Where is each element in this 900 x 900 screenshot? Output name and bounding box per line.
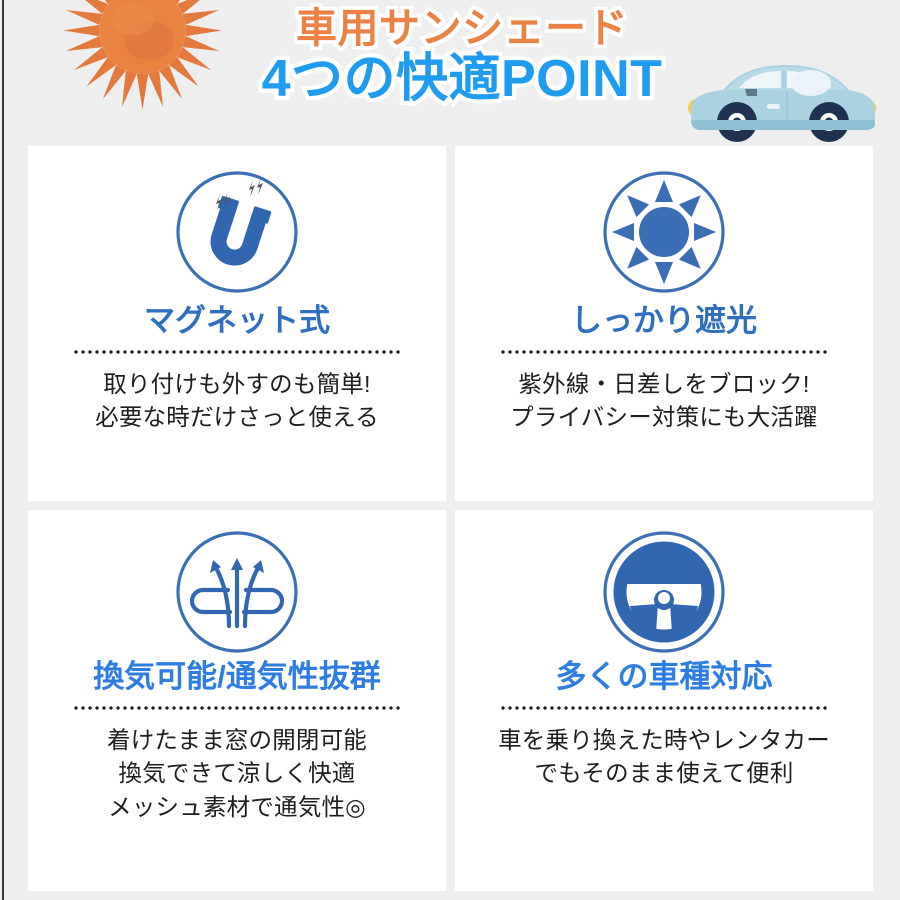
card-body-line: 取り付けも外すのも簡単! <box>95 368 379 401</box>
header-title-line1: 車用サンシェード <box>232 8 692 49</box>
feature-card-magnet[interactable]: マグネット式 取り付けも外すのも簡単! 必要な時だけさっと使える <box>28 146 446 501</box>
card-body: 紫外線・日差しをブロック! プライバシー対策にも大活躍 <box>510 368 818 435</box>
steering-wheel-icon <box>600 528 728 656</box>
card-body-line: 着けたまま窓の開閉可能 <box>107 724 367 757</box>
card-divider <box>74 350 400 354</box>
header-banner: 車用サンシェード 4つの快適POINT <box>0 0 900 145</box>
card-body-line: 紫外線・日差しをブロック! <box>510 368 818 401</box>
car-illustration <box>683 52 883 144</box>
header-title-line2: 4つの快適POINT <box>232 53 692 105</box>
feature-card-ventilation[interactable]: 換気可能/通気性抜群 着けたまま窓の開閉可能 換気できて涼しく快適 メッシュ素材… <box>28 510 446 891</box>
card-body: 車を乗り換えた時やレンタカー でもそのまま使えて便利 <box>498 724 830 791</box>
card-title: 換気可能/通気性抜群 <box>93 660 381 694</box>
card-divider <box>74 706 400 710</box>
feature-card-shade[interactable]: しっかり遮光 紫外線・日差しをブロック! プライバシー対策にも大活躍 <box>455 146 873 501</box>
sun-icon <box>600 168 728 296</box>
card-title: マグネット式 <box>144 304 330 338</box>
card-body-line: でもそのまま使えて便利 <box>498 757 830 790</box>
magnet-icon <box>173 168 301 296</box>
card-body-line: プライバシー対策にも大活躍 <box>510 401 818 434</box>
header-title-block: 車用サンシェード 4つの快適POINT <box>232 8 692 105</box>
card-body-line: 換気できて涼しく快適 <box>107 757 367 790</box>
card-body-line: メッシュ素材で通気性◎ <box>107 791 367 824</box>
card-divider <box>501 706 827 710</box>
card-body: 着けたまま窓の開閉可能 換気できて涼しく快適 メッシュ素材で通気性◎ <box>107 724 367 824</box>
feature-card-grid: マグネット式 取り付けも外すのも簡単! 必要な時だけさっと使える <box>28 146 873 891</box>
card-body-line: 必要な時だけさっと使える <box>95 401 379 434</box>
card-title: しっかり遮光 <box>571 304 757 338</box>
card-body-line: 車を乗り換えた時やレンタカー <box>498 724 830 757</box>
ventilation-icon <box>173 528 301 656</box>
infographic-page: 車用サンシェード 4つの快適POINT <box>0 0 900 900</box>
card-body: 取り付けも外すのも簡単! 必要な時だけさっと使える <box>95 368 379 435</box>
feature-card-vehicle-compat[interactable]: 多くの車種対応 車を乗り換えた時やレンタカー でもそのまま使えて便利 <box>455 510 873 891</box>
card-divider <box>501 350 827 354</box>
sun-illustration <box>60 0 225 113</box>
card-title: 多くの車種対応 <box>556 660 773 694</box>
